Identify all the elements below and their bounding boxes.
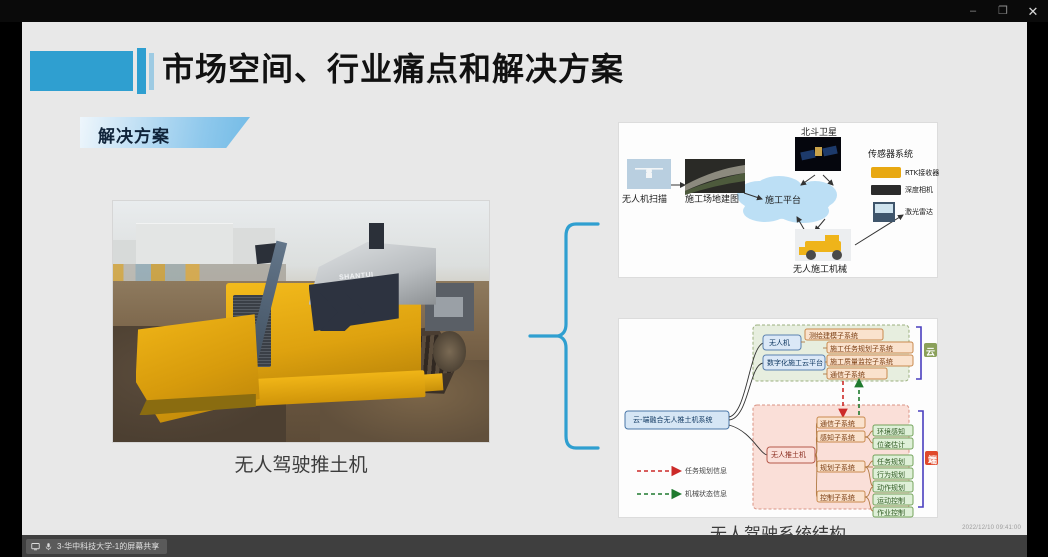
title-accent-bar-large: [30, 51, 133, 91]
sensor-panel-title: 传感器系统: [868, 147, 913, 160]
title-accent-bar-medium: [137, 48, 146, 94]
photo-building-tertiary: [113, 240, 136, 264]
label-unmanned-machinery: 无人施工机械: [793, 262, 847, 275]
diagram-unmanned-system-architecture: 云-端融合无人推土机系统 无人机 数字化施工云平台 测绘建模子系统 施工任务规划…: [618, 318, 938, 518]
page-title: 市场空间、行业痛点和解决方案: [162, 44, 624, 90]
cloud-badge-label: 云: [926, 345, 935, 358]
label-construction-platform: 施工平台: [765, 193, 801, 206]
slide-title-row: 市场空间、行业痛点和解决方案: [22, 40, 1027, 102]
label-perception-subsystem: 感知子系统: [820, 433, 855, 443]
window-titlebar: – ❐ ✕: [0, 0, 1048, 22]
screen-share-icon: [31, 542, 40, 551]
rtk-receiver-swatch: [871, 167, 901, 178]
taskbar: 3-华中科技大学-1的屏幕共享: [22, 535, 1027, 557]
label-surveying-modeling-subsystem: 测绘建模子系统: [809, 331, 858, 341]
leaf-motion-planning: 动作规划: [877, 483, 905, 493]
app-window: – ❐ ✕ 市场空间、行业痛点和解决方案 解决方案: [0, 0, 1048, 557]
leaf-task-planning: 任务规划: [877, 457, 905, 467]
bulldozer-photo: SHANTUI: [112, 200, 490, 443]
leaf-environment-perception: 环境感知: [877, 427, 905, 437]
label-rtk-receiver: RTK接收器: [905, 168, 939, 178]
window-controls: – ❐ ✕: [958, 0, 1048, 22]
edge-badge-label: 端: [928, 453, 937, 466]
legend-machine-status-info: 机械状态信息: [685, 489, 727, 499]
label-uav: 无人机: [769, 338, 790, 348]
microphone-icon: [44, 542, 53, 551]
label-lidar: 激光雷达: [905, 207, 933, 217]
diagram-unmanned-construction-machinery: 北斗卫星 无人机扫描 施工场地建图 施工平台 无人施工机械 传感器系统 RTK接…: [618, 122, 938, 278]
label-root-system: 云-端融合无人推土机系统: [633, 415, 713, 425]
diagram-bottom-caption: 无人驾驶系统结构: [618, 520, 938, 535]
edge-bracket: [918, 411, 923, 507]
depth-camera-swatch: [871, 185, 901, 195]
label-task-planning-subsystem: 施工任务规划子系统: [830, 344, 893, 354]
legend-task-planning-info: 任务规划信息: [685, 466, 727, 476]
label-planning-subsystem: 规划子系统: [820, 463, 855, 473]
minimize-button[interactable]: –: [958, 0, 988, 22]
leaf-motion-control: 运动控制: [877, 496, 905, 506]
label-unmanned-dozer: 无人推土机: [771, 450, 806, 460]
maximize-button[interactable]: ❐: [988, 0, 1018, 22]
label-depth-camera: 深度相机: [905, 185, 933, 195]
label-control-subsystem: 控制子系统: [820, 493, 855, 503]
cloud-bracket: [916, 327, 921, 379]
brace-connector: [524, 220, 604, 452]
close-button[interactable]: ✕: [1018, 0, 1048, 22]
title-accent-bar-small: [149, 53, 154, 90]
label-comm-subsystem-edge: 通信子系统: [820, 419, 855, 429]
dozer-exhaust-stack: [369, 223, 384, 250]
label-drone-scan: 无人机扫描: [622, 192, 667, 205]
label-comm-subsystem-cloud: 通信子系统: [830, 370, 865, 380]
leaf-behavior-planning: 行为规划: [877, 470, 905, 480]
label-digital-cloud-platform: 数字化施工云平台: [767, 358, 823, 368]
slide-canvas: 市场空间、行业痛点和解决方案 解决方案 SHANTUI: [22, 22, 1027, 535]
slide-timestamp: 2022/12/10 09:41:00: [962, 525, 1021, 531]
label-satellite: 北斗卫星: [801, 125, 837, 138]
label-quality-monitoring-subsystem: 施工质量监控子系统: [830, 357, 893, 367]
photo-building: [136, 223, 234, 264]
screen-share-indicator[interactable]: 3-华中科技大学-1的屏幕共享: [26, 539, 167, 554]
screen-share-label: 3-华中科技大学-1的屏幕共享: [57, 541, 159, 552]
label-site-mapping: 施工场地建图: [685, 192, 739, 205]
section-ribbon-label: 解决方案: [98, 122, 170, 147]
leaf-pose-estimation: 位姿估计: [877, 440, 905, 450]
leaf-operation-control: 作业控制: [877, 508, 905, 518]
photo-caption: 无人驾驶推土机: [112, 450, 490, 477]
